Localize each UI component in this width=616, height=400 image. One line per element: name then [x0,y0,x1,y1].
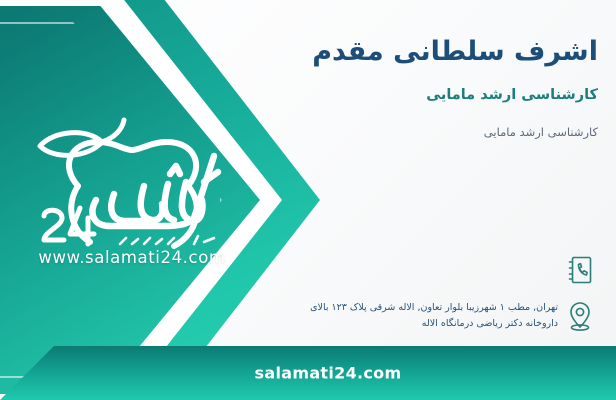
contact-address-line1: تهران, مطب ۱ شهرزیبا بلوار تعاون, الاله … [236,300,558,316]
practitioner-info: اشرف سلطانی مقدم کارشناسی ارشد مامایی کا… [238,34,598,140]
practitioner-specialty: کارشناسی ارشد مامایی [238,124,598,140]
practitioner-name: اشرف سلطانی مقدم [238,34,598,69]
phone-book-icon [558,250,602,290]
contact-block: تهران, مطب ۱ شهرزیبا بلوار تعاون, الاله … [230,250,602,342]
map-pin-icon [558,296,602,336]
contact-phone-value [230,263,558,277]
practitioner-degree: کارشناسی ارشد مامایی [238,85,598,105]
business-card: www.salamati24.com اشرف سلطانی مقدم کارش… [0,0,616,400]
contact-row-phone[interactable] [230,250,602,290]
contact-address-line2: داروخانه دکتر ریاضی درمانگاه الاله [236,316,558,332]
logo-website-url: www.salamati24.com [22,248,242,267]
contact-address: تهران, مطب ۱ شهرزیبا بلوار تعاون, الاله … [230,300,558,331]
contact-row-address[interactable]: تهران, مطب ۱ شهرزیبا بلوار تعاون, الاله … [230,296,602,336]
footer-bar: salamati24.com [0,346,616,400]
footer-website[interactable]: salamati24.com [0,364,616,383]
